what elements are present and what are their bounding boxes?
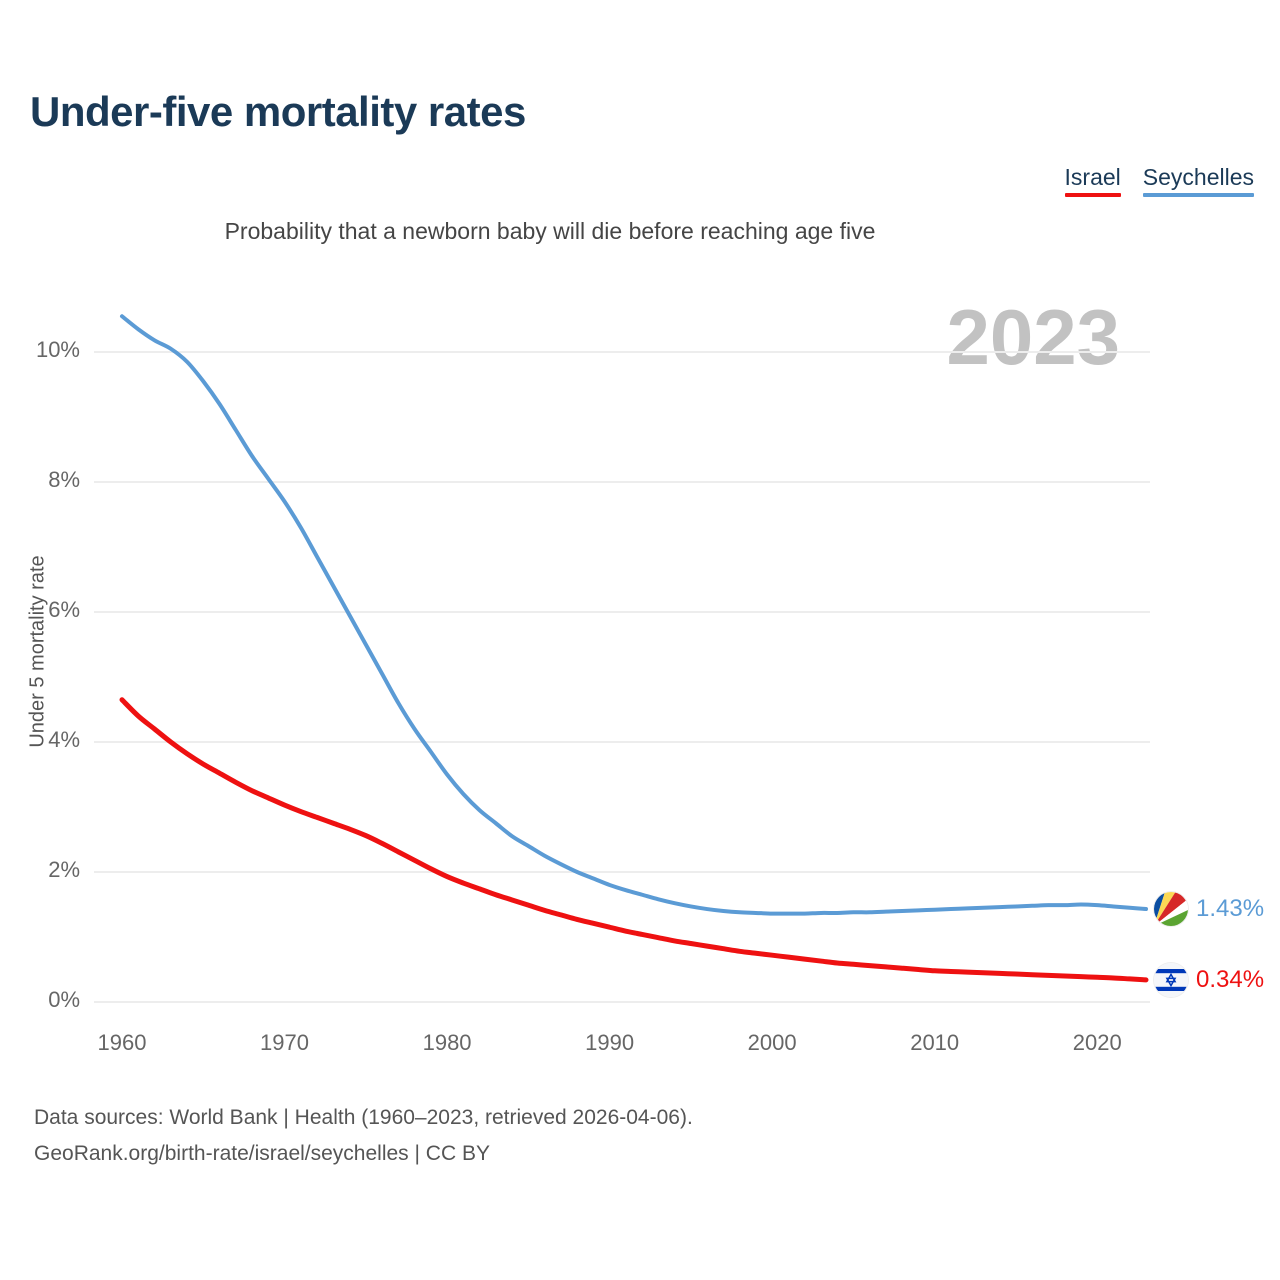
x-tick-label: 2000	[717, 1030, 827, 1056]
end-label-seychelles: 1.43%	[1154, 892, 1264, 926]
footer-sources: Data sources: World Bank | Health (1960–…	[34, 1100, 693, 1172]
chart-svg	[0, 0, 1280, 1075]
x-tick-label: 1970	[230, 1030, 340, 1056]
x-tick-label: 1960	[67, 1030, 177, 1056]
series-line-seychelles	[122, 316, 1146, 913]
y-tick-label: 6%	[0, 597, 80, 623]
y-tick-label: 10%	[0, 337, 80, 363]
seychelles-flag-icon	[1154, 892, 1188, 926]
chart-page: Under-five mortality rates Israel Seyche…	[0, 0, 1280, 1280]
x-tick-label: 2010	[880, 1030, 990, 1056]
y-tick-label: 4%	[0, 727, 80, 753]
israel-flag-icon	[1154, 963, 1188, 997]
plot-area	[0, 0, 1280, 1075]
series-lines	[122, 316, 1146, 980]
footer-line-2: GeoRank.org/birth-rate/israel/seychelles…	[34, 1136, 693, 1172]
end-value-israel: 0.34%	[1196, 966, 1264, 994]
y-tick-label: 8%	[0, 467, 80, 493]
y-tick-label: 0%	[0, 987, 80, 1013]
x-tick-label: 1980	[392, 1030, 502, 1056]
x-tick-label: 2020	[1042, 1030, 1152, 1056]
end-value-seychelles: 1.43%	[1196, 895, 1264, 923]
x-tick-label: 1990	[555, 1030, 665, 1056]
end-label-israel: 0.34%	[1154, 963, 1264, 997]
y-tick-label: 2%	[0, 857, 80, 883]
footer-line-1: Data sources: World Bank | Health (1960–…	[34, 1100, 693, 1136]
gridlines	[94, 352, 1150, 1002]
